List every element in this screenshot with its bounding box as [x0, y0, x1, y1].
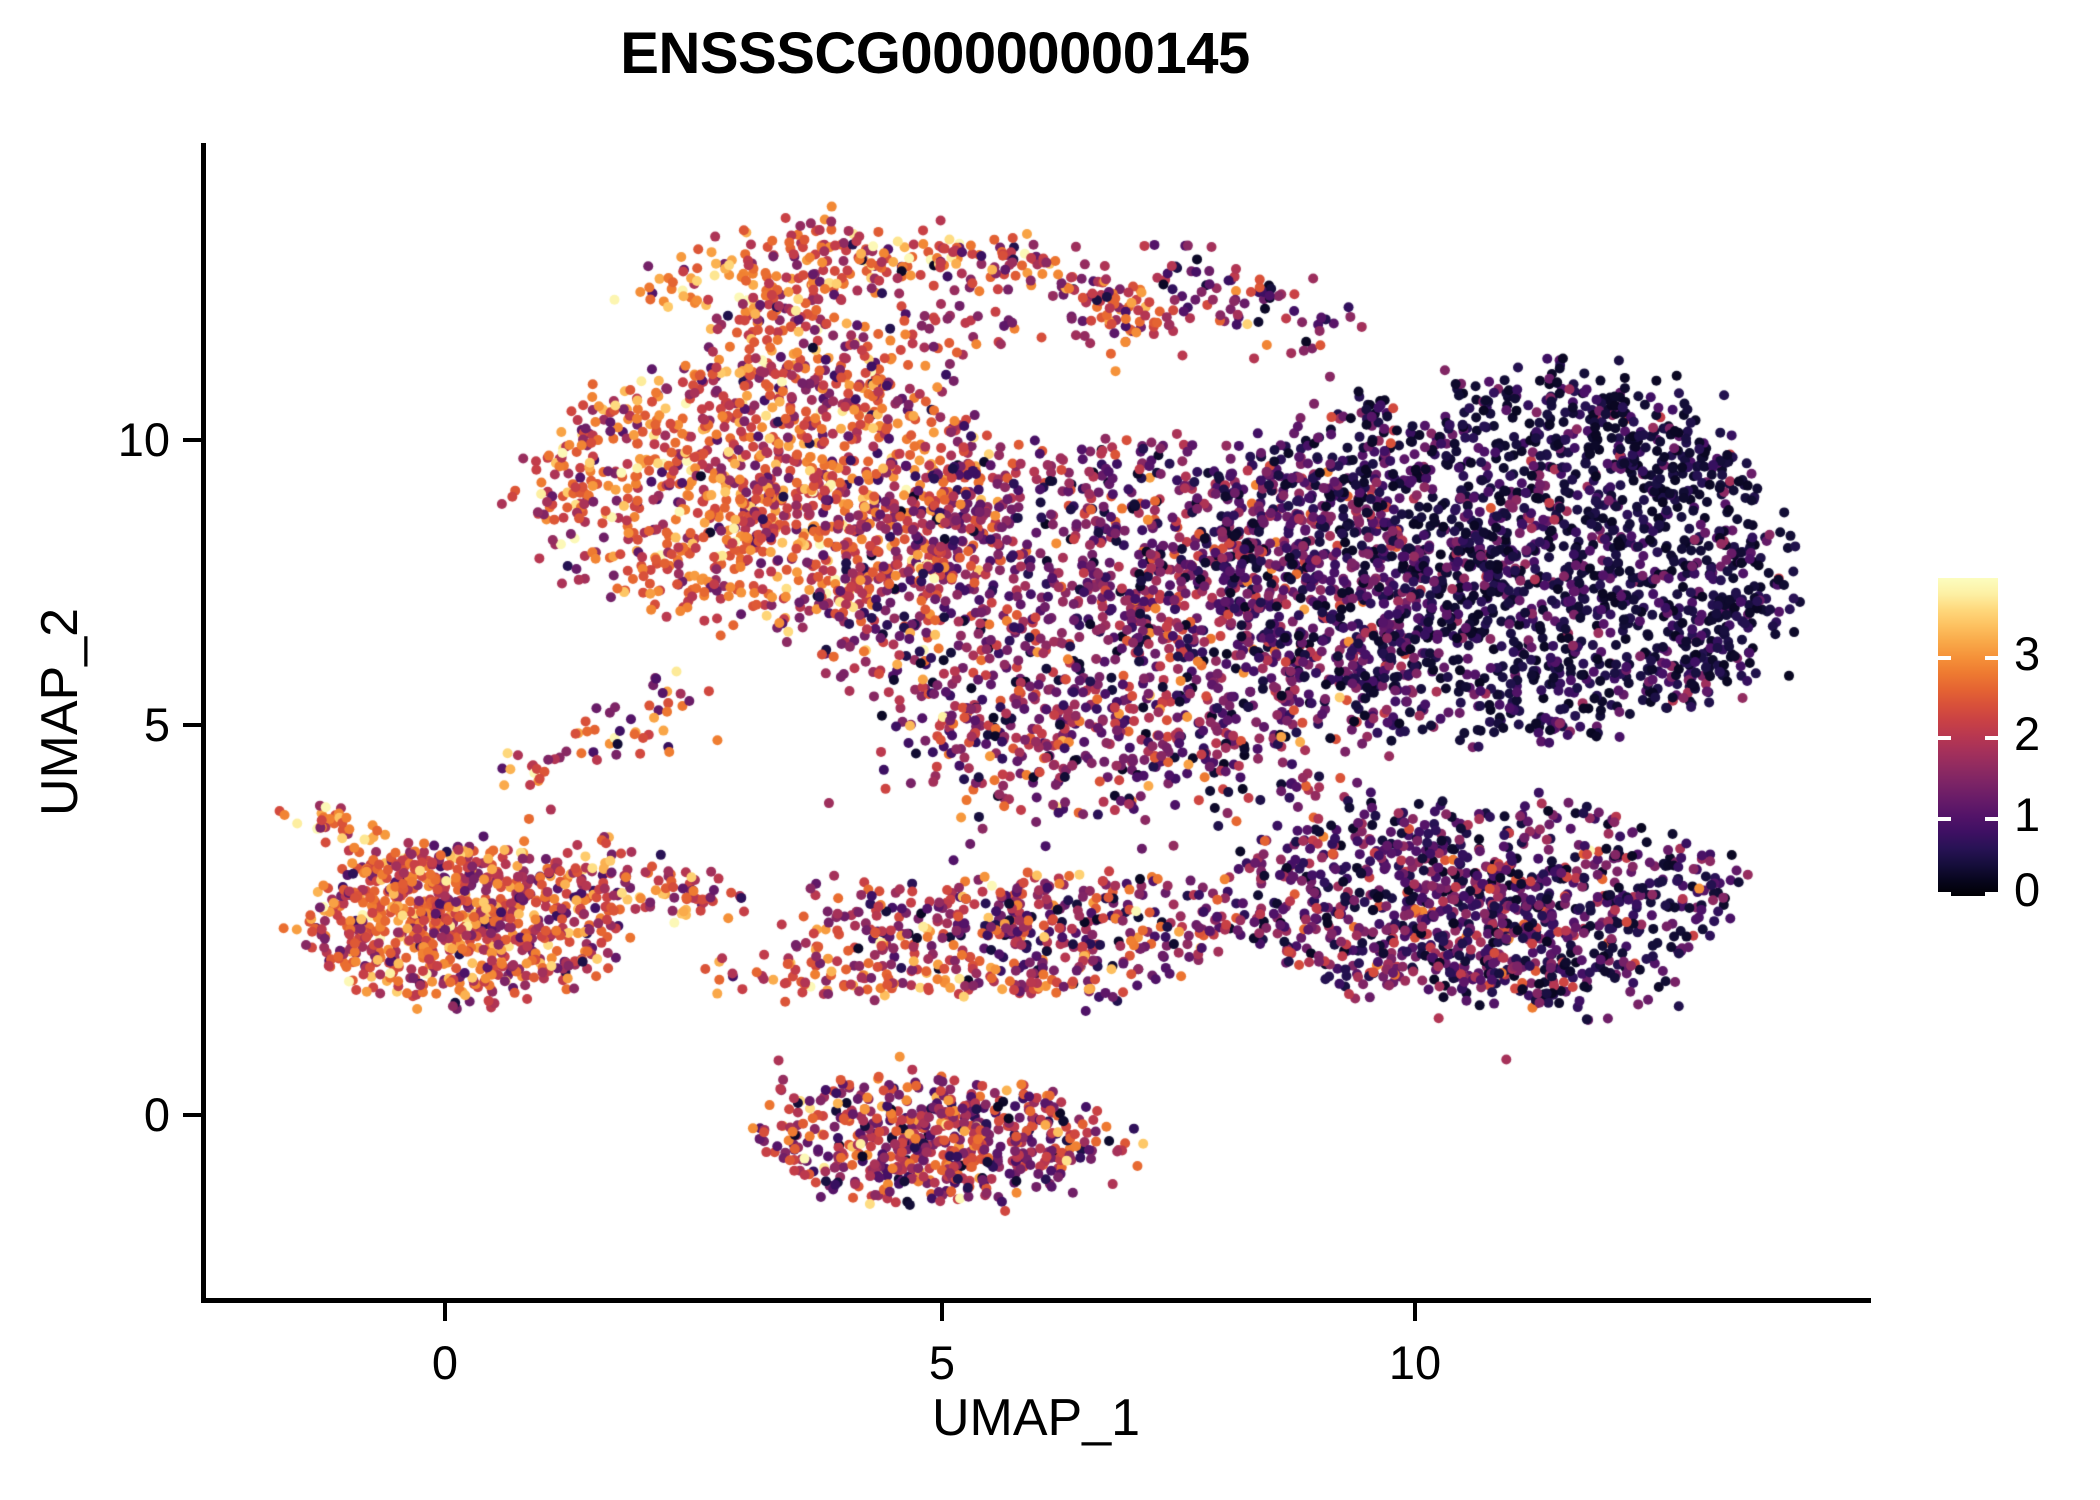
colorbar-label-0: 0: [2014, 866, 2040, 913]
y-tick-mark-0: [183, 1113, 201, 1117]
colorbar-tick-right-2: [1985, 736, 1998, 740]
colorbar-tick-right-3: [1985, 656, 1998, 660]
x-tick-label-10: 10: [1315, 1335, 1515, 1390]
x-tick-label-0: 0: [345, 1335, 545, 1390]
x-tick-label-5: 5: [842, 1335, 1042, 1390]
page-title: ENSSSCG00000000145: [0, 22, 1870, 86]
x-tick-mark-0: [443, 1303, 447, 1321]
x-tick-mark-10: [1413, 1303, 1417, 1321]
colorbar-tick-left-0: [1938, 892, 1951, 896]
colorbar-label-2: 2: [2014, 710, 2040, 757]
colorbar-legend: 3 2 1 0: [1938, 578, 2078, 898]
colorbar-tick-left-2: [1938, 736, 1951, 740]
x-axis-line: [201, 1298, 1871, 1303]
colorbar-label-3: 3: [2014, 630, 2040, 677]
y-tick-mark-10: [183, 438, 201, 442]
scatter-points-canvas: [205, 143, 1871, 1300]
colorbar-tick-left-1: [1938, 817, 1951, 821]
y-tick-label-0: 0: [40, 1087, 170, 1142]
y-axis-line: [201, 143, 206, 1303]
colorbar-tick-right-0: [1985, 892, 1998, 896]
y-axis-title: UMAP_2: [30, 362, 90, 1062]
colorbar-tick-left-3: [1938, 656, 1951, 660]
x-axis-title: UMAP_1: [201, 1388, 1871, 1448]
colorbar-label-1: 1: [2014, 791, 2040, 838]
colorbar-tick-right-1: [1985, 817, 1998, 821]
feature-plot-figure: ENSSSCG00000000145 10 5 0 0 5 10 UMAP_1 …: [0, 0, 2100, 1500]
x-tick-mark-5: [940, 1303, 944, 1321]
y-tick-mark-5: [183, 723, 201, 727]
plot-panel: [205, 143, 1871, 1300]
